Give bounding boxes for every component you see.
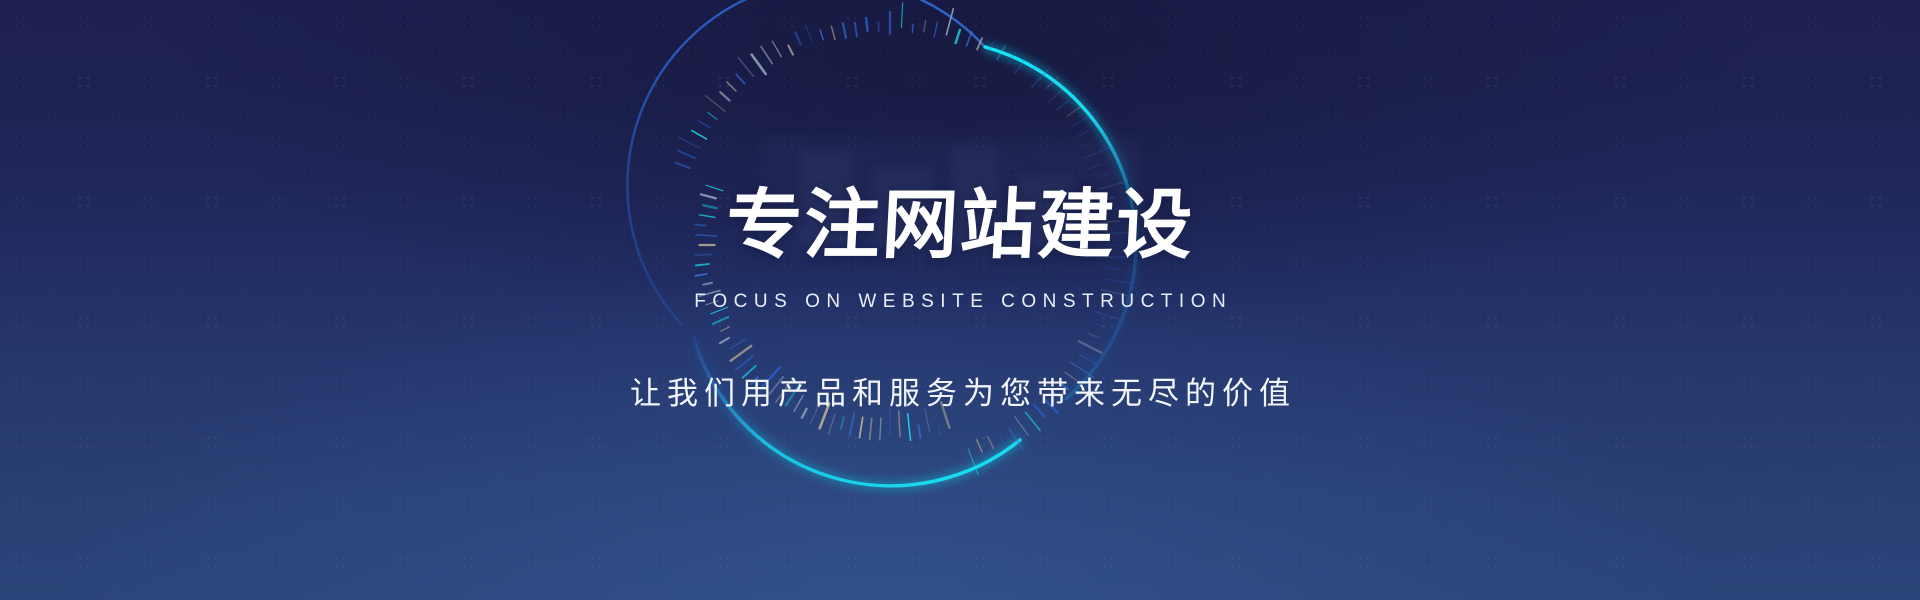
ring-arc-dim-blue xyxy=(627,0,985,324)
ring-tick xyxy=(696,235,717,236)
ring-tick xyxy=(1067,107,1080,117)
ring-tick xyxy=(736,74,744,83)
ring-tick xyxy=(695,274,706,276)
ring-tick xyxy=(1032,68,1050,88)
ring-tick xyxy=(676,163,690,168)
ghost-block-d xyxy=(1018,176,1072,246)
ring-tick xyxy=(1104,198,1114,200)
ring-tick xyxy=(987,42,993,54)
ring-tick xyxy=(788,46,793,55)
ring-tick xyxy=(946,9,953,35)
ring-tick xyxy=(999,434,1004,443)
ring-tick xyxy=(988,437,994,448)
ring-tick xyxy=(1034,405,1044,416)
ring-tick xyxy=(899,411,900,437)
ring-tick xyxy=(925,409,930,432)
ring-tick xyxy=(678,151,695,159)
ring-tick xyxy=(1079,131,1088,136)
page-tagline: 让我们用产品和服务为您带来无尽的价值 xyxy=(0,378,1920,409)
ring-tick xyxy=(901,3,902,28)
ring-tick xyxy=(997,46,1005,60)
ring-tick xyxy=(738,58,753,77)
ring-tick xyxy=(1005,52,1015,67)
ring-tick xyxy=(939,426,942,436)
ring-tick xyxy=(1015,60,1024,73)
ring-tick xyxy=(696,254,712,255)
ring-tick xyxy=(1092,323,1107,329)
ring-tick xyxy=(727,82,736,91)
ring-tick xyxy=(743,366,756,378)
ring-tick xyxy=(706,96,725,112)
ring-tick xyxy=(880,418,881,440)
ring-tick xyxy=(1102,302,1127,309)
ring-tick xyxy=(1106,233,1126,234)
ring-tick xyxy=(966,32,971,46)
ring-tick xyxy=(912,24,913,33)
ring-tick xyxy=(1106,268,1120,270)
ghost-panel-backdrop xyxy=(760,138,1140,256)
dot-grid-layer-primary xyxy=(0,0,1920,600)
ring-tick xyxy=(1098,174,1110,178)
ring-tick xyxy=(1070,362,1093,377)
ring-tick xyxy=(713,317,728,324)
tech-ring-graphic xyxy=(0,0,1920,600)
ring-tick xyxy=(700,291,720,296)
ring-tick xyxy=(934,21,937,36)
ring-tick xyxy=(1026,412,1041,430)
ring-tick xyxy=(770,377,783,394)
dot-grid-layer-sparse xyxy=(0,0,1920,600)
ring-tick xyxy=(855,23,857,37)
ring-tick xyxy=(692,131,707,140)
ring-tick xyxy=(1095,312,1119,320)
ring-tick xyxy=(721,327,730,332)
ring-tick xyxy=(1050,389,1058,397)
ring-tick xyxy=(843,23,846,38)
ring-tick xyxy=(820,404,830,429)
ring-tick xyxy=(866,18,867,31)
ring-tick xyxy=(679,137,701,148)
background-hue-wash xyxy=(0,0,1920,600)
ring-arc-bright-cyan xyxy=(985,47,1136,399)
ring-tick-marks xyxy=(676,3,1132,475)
ring-tick xyxy=(730,339,746,349)
ring-tick xyxy=(1045,400,1058,413)
ring-tick xyxy=(956,30,960,43)
ring-tick xyxy=(720,92,729,100)
ring-tick xyxy=(1101,221,1120,223)
ghost-block-a xyxy=(800,150,852,246)
hero-banner: 专注网站建设 FOCUS ON WEBSITE CONSTRUCTION 让我们… xyxy=(0,0,1920,600)
ring-tick xyxy=(1084,148,1109,159)
ring-tick xyxy=(802,409,807,418)
ring-tick xyxy=(811,402,821,424)
ring-tick xyxy=(731,346,752,361)
ring-tick xyxy=(1015,417,1028,435)
ring-tick xyxy=(706,301,718,305)
ring-tick xyxy=(1107,279,1132,283)
ring-tick xyxy=(703,205,716,208)
ring-tick xyxy=(1049,87,1066,102)
ring-tick xyxy=(806,25,812,41)
ring-tick xyxy=(1106,209,1118,211)
ring-tick xyxy=(1058,101,1068,110)
ring-tick xyxy=(699,121,710,128)
ring-tick xyxy=(1045,76,1058,89)
dot-grid-layer-secondary xyxy=(0,0,1920,600)
ring-tick xyxy=(829,414,836,434)
page-title: 专注网站建设 xyxy=(0,188,1920,264)
ring-tick xyxy=(860,417,863,437)
ring-tick xyxy=(941,402,949,428)
ring-tick xyxy=(1082,144,1089,148)
ring-tick xyxy=(841,417,844,429)
ring-tick xyxy=(794,395,803,411)
page-subtitle-english: FOCUS ON WEBSITE CONSTRUCTION xyxy=(0,292,1920,311)
ring-tick xyxy=(1101,290,1127,296)
ring-tick xyxy=(751,377,758,384)
ring-tick xyxy=(870,418,872,440)
ring-tick xyxy=(977,440,983,452)
ring-tick xyxy=(1109,257,1128,258)
ring-tick xyxy=(977,38,982,49)
ring-tick xyxy=(695,225,706,226)
tech-ring-svg xyxy=(0,0,1920,600)
ring-tick xyxy=(706,185,723,191)
ring-tick xyxy=(850,414,855,435)
ring-tick xyxy=(762,367,780,386)
ring-tick xyxy=(786,385,799,406)
ring-tick xyxy=(1025,60,1040,78)
ghost-block-b xyxy=(872,168,932,246)
ring-tick xyxy=(1088,164,1101,169)
ring-tick xyxy=(711,307,728,314)
ring-tick xyxy=(736,357,753,370)
ring-tick xyxy=(720,338,729,343)
ring-tick xyxy=(1009,429,1023,450)
ring-tick xyxy=(968,449,978,475)
ring-tick xyxy=(1098,182,1124,189)
ring-tick xyxy=(1089,333,1100,338)
ring-tick xyxy=(1072,112,1095,127)
ghost-block-c xyxy=(952,146,998,246)
ring-tick xyxy=(776,381,791,402)
ring-tick xyxy=(1079,341,1102,353)
ring-tick xyxy=(1080,355,1096,364)
ring-tick xyxy=(795,32,800,44)
ring-tick xyxy=(699,215,715,218)
ring-tick xyxy=(831,26,835,39)
ring-tick xyxy=(701,194,716,198)
ring-tick xyxy=(820,30,823,40)
ring-tick xyxy=(924,21,926,32)
ring-tick xyxy=(708,113,717,120)
ring-tick xyxy=(696,264,709,265)
ring-tick xyxy=(1060,383,1068,390)
ring-tick xyxy=(1065,372,1076,380)
ring-tick xyxy=(908,414,911,441)
ring-arc-bright-cyan-lower xyxy=(694,338,1020,486)
ring-tick xyxy=(761,47,772,64)
ring-tick xyxy=(752,55,766,74)
ring-tick xyxy=(772,41,781,57)
ring-tick xyxy=(878,22,879,31)
ring-tick xyxy=(703,283,712,285)
ring-tick xyxy=(919,425,921,437)
